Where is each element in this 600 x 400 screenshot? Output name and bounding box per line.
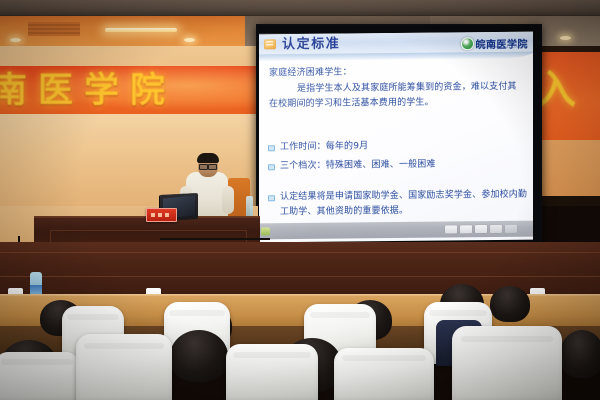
hall-banner-text: 南医学院 bbox=[0, 70, 267, 112]
hall-banner-right-text: 入 bbox=[536, 60, 600, 120]
wall-trim bbox=[0, 252, 600, 253]
chair-cover bbox=[226, 344, 318, 400]
red-nameplate bbox=[146, 208, 177, 222]
taskbar-item bbox=[460, 225, 472, 233]
downlight bbox=[10, 38, 21, 42]
slide-body: 家庭经济困难学生： 是指学生本人及其家庭所能筹集到的资金，难以支付其在校期间的学… bbox=[259, 60, 533, 231]
list-item: 工作时间：每年的9月 bbox=[267, 138, 529, 156]
glasses-icon bbox=[199, 164, 217, 168]
seal-icon bbox=[461, 37, 474, 50]
lecture-hall-photo: 南医学院 入 认定标准 皖南医学院 WANNAN MEDICAL COLLEGE… bbox=[0, 0, 600, 400]
slide-lead-definition: 是指学生本人及其家庭所能筹集到的资金，难以支付其在校期间的学习和生活基本费用的学… bbox=[269, 80, 525, 113]
taskbar-item bbox=[475, 225, 487, 233]
attendee-head bbox=[560, 330, 600, 378]
university-logo: 皖南医学院 bbox=[461, 35, 529, 53]
chair-cover bbox=[334, 348, 434, 400]
bullet-text: 工作时间：每年的9月 bbox=[280, 141, 368, 152]
slide-bullet-group-a: 工作时间：每年的9月 三个档次：特殊困难、困难、一般困难 bbox=[267, 138, 529, 179]
list-item: 三个档次：特殊困难、困难、一般困难 bbox=[267, 157, 529, 175]
presentation-slide: 认定标准 皖南医学院 WANNAN MEDICAL COLLEGE 家庭经济困难… bbox=[259, 32, 533, 243]
logo-english-name: WANNAN MEDICAL COLLEGE bbox=[479, 46, 528, 50]
downlight bbox=[184, 38, 195, 42]
slide-bullet-group-b: 认定结果将是申请国家助学金、国家励志奖学金、参加校内勤工助学、其他资助的重要依据… bbox=[267, 188, 529, 225]
attendee-head bbox=[490, 286, 530, 322]
taskbar-item bbox=[505, 225, 517, 233]
taskbar-item bbox=[490, 225, 502, 233]
list-item: 认定结果将是申请国家助学金、国家励志奖学金、参加校内勤工助学、其他资助的重要依据… bbox=[267, 188, 529, 221]
folder-icon bbox=[264, 39, 276, 49]
wall-trim bbox=[0, 276, 600, 277]
presenter-hair bbox=[197, 153, 219, 163]
projected-taskbar bbox=[259, 221, 533, 240]
slide-lead-term: 家庭经济困难学生： bbox=[269, 64, 352, 78]
bullet-marker-icon bbox=[268, 145, 275, 151]
ceiling-vent bbox=[28, 22, 80, 36]
bullet-text: 认定结果将是申请国家助学金、国家励志奖学金、参加校内勤工助学、其他资助的重要依据… bbox=[280, 190, 527, 218]
start-button bbox=[261, 227, 270, 235]
bullet-marker-icon bbox=[268, 164, 275, 170]
floor-cable bbox=[160, 238, 270, 240]
slide-title: 认定标准 bbox=[282, 36, 340, 55]
water-bottle bbox=[246, 196, 253, 218]
bullet-marker-icon bbox=[268, 195, 275, 201]
chair-cover bbox=[0, 352, 80, 400]
bullet-text: 三个档次：特殊困难、困难、一般困难 bbox=[280, 160, 436, 172]
chair-cover bbox=[452, 326, 562, 400]
downlight bbox=[560, 36, 571, 40]
chair-cover bbox=[76, 334, 172, 400]
attendee-head bbox=[170, 330, 228, 382]
taskbar-item bbox=[445, 225, 457, 233]
presenter-arm-right bbox=[222, 186, 234, 214]
strip-light bbox=[105, 28, 177, 32]
